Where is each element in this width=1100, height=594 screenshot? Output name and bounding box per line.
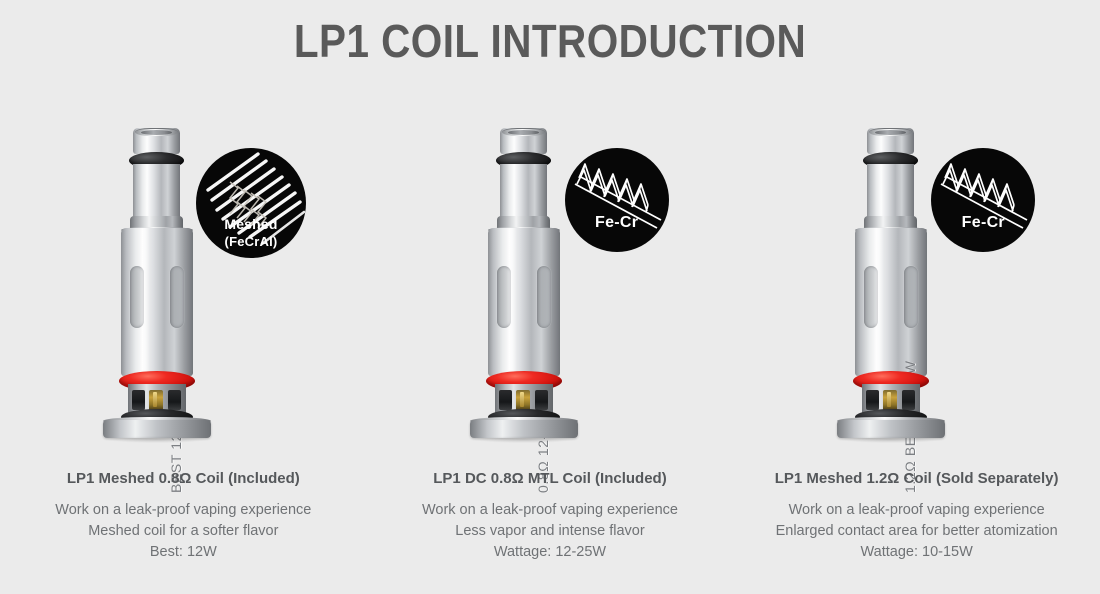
coil-contact-pin-highlight [520,392,524,407]
product-desc-1-line-3: Best: 12W [0,542,367,563]
coil-slot-right [170,266,184,328]
helical-wire-icon [565,148,669,252]
coil-image-1: BEST 12W [97,128,217,453]
coil-stage-1: BEST 12W [0,128,367,458]
coil-stage-3: 1.2Ω BEST 10-15W [733,128,1100,458]
product-desc-2-line-3: Wattage: 12-25W [367,542,734,563]
badge-label-main-3: Fe-Cr [931,214,1035,232]
coil-image-2: 0.8Ω 12-25W [464,128,584,453]
product-title-1: LP1 Meshed 0.8Ω Coil (Included) [0,470,367,487]
coil-drop-shadow [474,436,574,443]
coil-juice-port-right [902,390,915,410]
coil-slot-left [497,266,511,328]
badge-material-3: Fe-Cr [931,148,1035,252]
coil-juice-port-right [168,390,181,410]
coil-slot-right [537,266,551,328]
product-desc-3-line-2: Enlarged contact area for better atomiza… [733,521,1100,542]
coil-drop-shadow [841,436,941,443]
coil-cap-bore [508,130,539,135]
coil-contact-pin-highlight [153,392,157,407]
product-desc-1-line-2: Meshed coil for a softer flavor [0,521,367,542]
coil-juice-port-right [535,390,548,410]
coil-neck [500,164,547,224]
product-caption-2: LP1 DC 0.8Ω MTL Coil (Included) Work on … [367,470,734,563]
product-desc-1-line-1: Work on a leak-proof vaping experience [0,500,367,521]
badge-material-2: Fe-Cr [565,148,669,252]
badge-label-sub-1: (FeCrAl) [196,234,306,249]
coil-slot-left [864,266,878,328]
product-desc-2-line-2: Less vapor and intense flavor [367,521,734,542]
product-title-2: LP1 DC 0.8Ω MTL Coil (Included) [367,470,734,487]
badge-material-1: Meshed (FeCrAl) [196,148,306,258]
product-caption-1: LP1 Meshed 0.8Ω Coil (Included) Work on … [0,470,367,563]
badge-label-main-1: Meshed [196,216,306,232]
coil-slot-left [130,266,144,328]
product-desc-3-line-3: Wattage: 10-15W [733,542,1100,563]
coil-contact-pin-highlight [887,392,891,407]
coil-neck [867,164,914,224]
coil-stage-2: 0.8Ω 12-25W [367,128,734,458]
product-column-1: BEST 12W [0,0,367,594]
infographic-page: LP1 COIL INTRODUCTION BE [0,0,1100,594]
coil-drop-shadow [107,436,207,443]
coil-juice-port-left [866,390,879,410]
coil-neck [133,164,180,224]
badge-label-main-2: Fe-Cr [565,214,669,232]
product-desc-3-line-1: Work on a leak-proof vaping experience [733,500,1100,521]
product-column-2: 0.8Ω 12-25W [367,0,734,594]
coil-juice-port-left [499,390,512,410]
product-caption-3: LP1 Meshed 1.2Ω Coil (Sold Separately) W… [733,470,1100,563]
coil-juice-port-left [132,390,145,410]
product-columns: BEST 12W [0,0,1100,594]
product-column-3: 1.2Ω BEST 10-15W [733,0,1100,594]
product-title-3: LP1 Meshed 1.2Ω Coil (Sold Separately) [733,470,1100,487]
coil-slot-right [904,266,918,328]
coil-image-3: 1.2Ω BEST 10-15W [831,128,951,453]
coil-cap-bore [875,130,906,135]
product-desc-2-line-1: Work on a leak-proof vaping experience [367,500,734,521]
helical-wire-icon [931,148,1035,252]
